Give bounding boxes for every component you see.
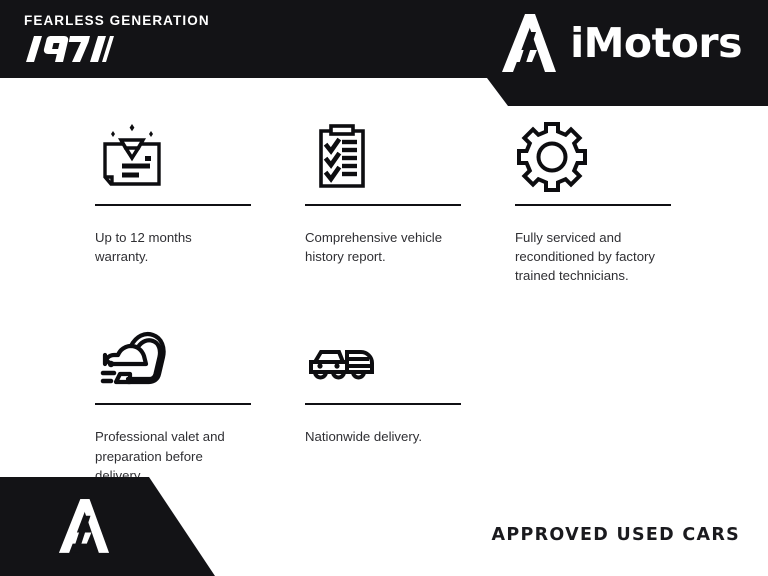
approved-used-cars-label: APPROVED USED CARS	[492, 525, 740, 545]
feature-label: Fully serviced and reconditioned by fact…	[515, 228, 665, 285]
vacuum-cleaner-icon	[95, 317, 305, 403]
feature-item-valet: Professional valet and preparation befor…	[95, 317, 305, 484]
feature-label: Up to 12 months warranty.	[95, 228, 245, 266]
feature-item-delivery: Nationwide delivery.	[305, 317, 515, 484]
car-transporter-truck-icon	[305, 317, 515, 403]
promo-panel: FEARLESS GENERATION	[0, 0, 768, 576]
footer-imotors-chevron-icon	[58, 498, 110, 554]
divider	[95, 403, 251, 405]
divider	[305, 204, 461, 206]
certificate-diamond-icon	[95, 106, 305, 204]
gear-icon	[515, 106, 725, 204]
feature-item-empty	[515, 317, 725, 484]
feature-grid: Up to 12 months warranty.	[0, 106, 768, 485]
feature-row-2: Professional valet and preparation befor…	[0, 317, 768, 484]
imotors-brand-lockup: iMotors	[501, 12, 742, 74]
header-bar: FEARLESS GENERATION	[0, 0, 768, 106]
header-tagline: FEARLESS GENERATION	[24, 14, 264, 28]
divider	[515, 204, 671, 206]
feature-label: Comprehensive vehicle history report.	[305, 228, 455, 266]
feature-item-serviced: Fully serviced and reconditioned by fact…	[515, 106, 725, 285]
fearless-generation-lockup: FEARLESS GENERATION	[24, 14, 264, 66]
imotors-chevron-icon	[501, 14, 557, 72]
clipboard-checklist-icon	[305, 106, 515, 204]
year-1971-logo	[24, 32, 114, 66]
footer-accent-shape	[0, 477, 230, 576]
feature-label: Professional valet and preparation befor…	[95, 427, 245, 484]
divider	[305, 403, 461, 405]
feature-label: Nationwide delivery.	[305, 427, 455, 446]
divider	[95, 204, 251, 206]
feature-item-warranty: Up to 12 months warranty.	[95, 106, 305, 285]
feature-row-1: Up to 12 months warranty.	[0, 106, 768, 285]
imotors-wordmark: iMotors	[570, 23, 742, 64]
feature-item-history-report: Comprehensive vehicle history report.	[305, 106, 515, 285]
